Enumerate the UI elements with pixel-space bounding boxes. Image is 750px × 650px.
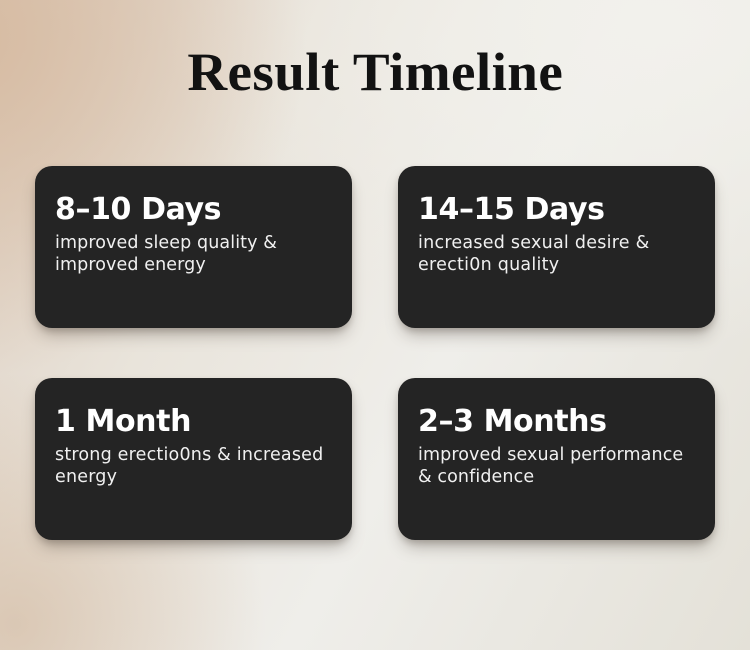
timeline-card-14-15-days[interactable]: 14–15 Days increased sexual desire & ere… bbox=[398, 166, 715, 328]
page-title: Result Timeline bbox=[187, 44, 563, 101]
timeline-card-body: strong erectio0ns & increased energy bbox=[55, 444, 330, 488]
timeline-card-1-month[interactable]: 1 Month strong erectio0ns & increased en… bbox=[35, 378, 352, 540]
timeline-card-2-3-months[interactable]: 2–3 Months improved sexual performance &… bbox=[398, 378, 715, 540]
timeline-card-heading: 14–15 Days bbox=[418, 194, 693, 226]
timeline-card-body: increased sexual desire & erecti0n quali… bbox=[418, 232, 693, 276]
title-container: Result Timeline bbox=[0, 44, 750, 101]
timeline-card-body: improved sleep quality & improved energy bbox=[55, 232, 330, 276]
timeline-card-body: improved sexual performance & confidence bbox=[418, 444, 693, 488]
result-timeline-poster: Result Timeline 8–10 Days improved sleep… bbox=[0, 0, 750, 650]
timeline-card-heading: 1 Month bbox=[55, 406, 330, 438]
timeline-card-8-10-days[interactable]: 8–10 Days improved sleep quality & impro… bbox=[35, 166, 352, 328]
timeline-card-heading: 2–3 Months bbox=[418, 406, 693, 438]
timeline-card-heading: 8–10 Days bbox=[55, 194, 330, 226]
timeline-card-grid: 8–10 Days improved sleep quality & impro… bbox=[35, 166, 715, 540]
